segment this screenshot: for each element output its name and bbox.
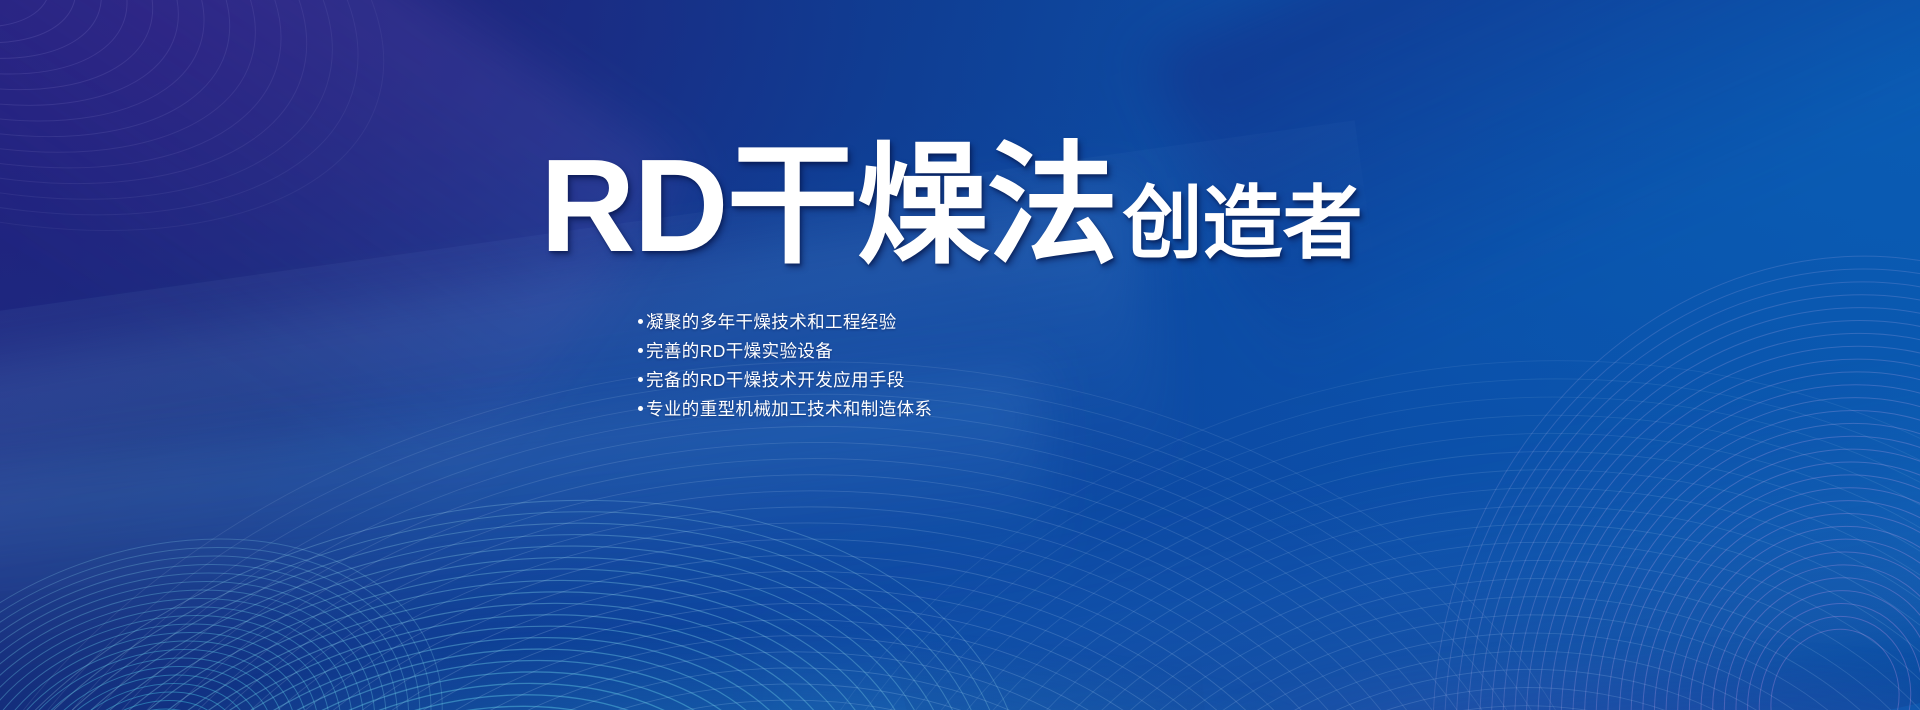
bullet-dot-icon xyxy=(638,319,643,324)
list-item: 凝聚的多年干燥技术和工程经验 xyxy=(638,308,932,337)
hero-banner: RD干燥法创造者 凝聚的多年干燥技术和工程经验 完善的RD干燥实验设备 完备的R… xyxy=(0,0,1920,710)
list-item-label: 完备的RD干燥技术开发应用手段 xyxy=(646,366,905,395)
list-item-label: 专业的重型机械加工技术和制造体系 xyxy=(646,395,932,424)
list-item-label: 完善的RD干燥实验设备 xyxy=(646,337,833,366)
banner-content: RD干燥法创造者 凝聚的多年干燥技术和工程经验 完善的RD干燥实验设备 完备的R… xyxy=(0,0,1920,710)
list-item: 完善的RD干燥实验设备 xyxy=(638,337,932,366)
page-title: RD干燥法创造者 xyxy=(540,140,1363,272)
bullet-dot-icon xyxy=(638,406,643,411)
bullet-dot-icon xyxy=(638,348,643,353)
list-item: 完备的RD干燥技术开发应用手段 xyxy=(638,366,932,395)
feature-list: 凝聚的多年干燥技术和工程经验 完善的RD干燥实验设备 完备的RD干燥技术开发应用… xyxy=(638,308,932,424)
list-item: 专业的重型机械加工技术和制造体系 xyxy=(638,395,932,424)
list-item-label: 凝聚的多年干燥技术和工程经验 xyxy=(646,308,897,337)
page-title-primary: RD干燥法 xyxy=(540,132,1117,279)
page-title-secondary: 创造者 xyxy=(1123,179,1363,268)
bullet-dot-icon xyxy=(638,377,643,382)
